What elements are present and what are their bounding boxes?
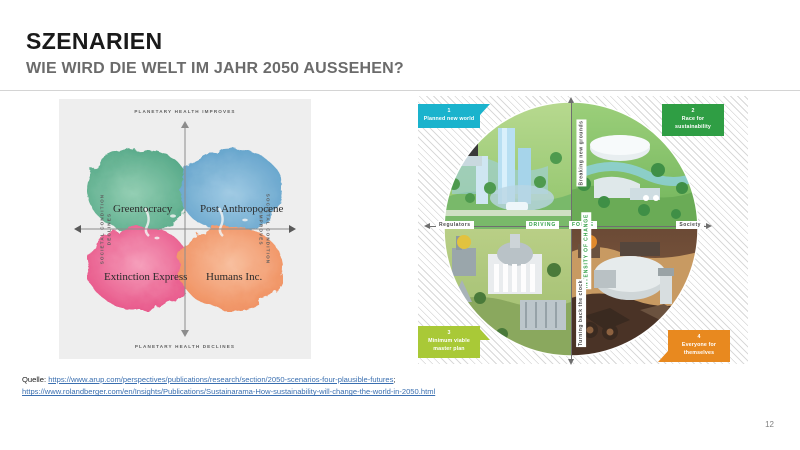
scenario-label: Planned new world xyxy=(424,116,475,122)
source-link-arup[interactable]: https://www.arup.com/perspectives/public… xyxy=(48,375,393,384)
scenario-tag-minimum-viable-master-plan: 3 Minimum viable master plan xyxy=(418,326,480,358)
illustration-arrow-right-icon xyxy=(706,223,712,229)
illustration-axis-label-breaking-new-grounds: Breaking new grounds xyxy=(576,120,586,187)
scenario-tag-everyone-for-themselves: 4 Everyone for themselves xyxy=(668,330,730,362)
illustration-vertical-axis xyxy=(571,102,572,360)
illustration-axis-label-society: Society xyxy=(676,221,704,229)
scenario-tag-race-for-sustainability: 2 Race for sustainability xyxy=(662,104,724,136)
scenario-circle-figure: Regulators Society DRIVING FORCE Breakin… xyxy=(418,96,748,364)
quadrant-label-extinction-express: Extinction Express xyxy=(104,271,187,283)
axis-arrow-left-icon xyxy=(74,225,81,233)
source-label: Quelle: xyxy=(22,375,46,384)
source-note: Quelle: https://www.arup.com/perspective… xyxy=(22,374,435,399)
illustration-axis-label-intensity-of-change: INTENSITY OF CHANGE xyxy=(581,213,591,290)
tag-tail-icon xyxy=(658,351,668,362)
source-link-rolandberger[interactable]: https://www.rolandberger.com/en/Insights… xyxy=(22,387,435,396)
matrix-axis-label-right: SOCIETAL CONDITION IMPROVES xyxy=(257,186,270,272)
slide: SZENARIEN WIE WIRD DIE WELT IM JAHR 2050… xyxy=(0,0,800,450)
tag-tail-icon xyxy=(480,329,490,340)
quadrant-label-post-anthropocene: Post Anthropocene xyxy=(200,203,283,215)
scenario-matrix-figure: PLANETARY HEALTH IMPROVES PLANETARY HEAL… xyxy=(59,99,311,359)
scenario-label: Minimum viable master plan xyxy=(428,338,470,352)
quadrant-label-greentocracy: Greentocracy xyxy=(113,203,172,215)
quadrant-label-humans-inc: Humans Inc. xyxy=(206,271,262,283)
illustration-arrow-up-icon xyxy=(568,97,574,103)
matrix-axis-label-top: PLANETARY HEALTH IMPROVES xyxy=(59,109,311,116)
illustration-axis-label-regulators: Regulators xyxy=(436,221,474,229)
matrix-axis-label-left: SOCIETAL CONDITION DECLINES xyxy=(99,186,112,272)
scenario-number: 2 xyxy=(667,108,719,116)
header-divider xyxy=(0,90,800,91)
illustration-arrow-left-icon xyxy=(424,223,430,229)
page-number: 12 xyxy=(765,420,774,429)
scenario-number: 3 xyxy=(423,330,475,338)
matrix-canvas: PLANETARY HEALTH IMPROVES PLANETARY HEAL… xyxy=(59,99,311,359)
matrix-axis-label-bottom: PLANETARY HEALTH DECLINES xyxy=(59,344,311,351)
illustration-axis-label-driving: DRIVING xyxy=(526,221,559,229)
illustration-arrow-down-icon xyxy=(568,359,574,365)
scenario-label: Race for sustainability xyxy=(675,116,711,130)
scenario-tag-planned-new-world: 1 Planned new world xyxy=(418,104,480,128)
scenario-label: Everyone for themselves xyxy=(682,342,716,356)
scenario-number: 1 xyxy=(423,108,475,116)
page-subtitle: WIE WIRD DIE WELT IM JAHR 2050 AUSSEHEN? xyxy=(26,60,404,78)
page-title: SZENARIEN xyxy=(26,28,163,55)
axis-arrow-right-icon xyxy=(289,225,296,233)
illustration-axis-label-turning-back-the-clock: Turning back the clock xyxy=(576,279,586,347)
axis-arrow-down-icon xyxy=(181,330,189,337)
scenario-number: 4 xyxy=(673,334,725,342)
axis-arrow-up-icon xyxy=(181,121,189,128)
source-separator: ; xyxy=(393,375,395,384)
tag-tail-icon xyxy=(480,104,490,115)
